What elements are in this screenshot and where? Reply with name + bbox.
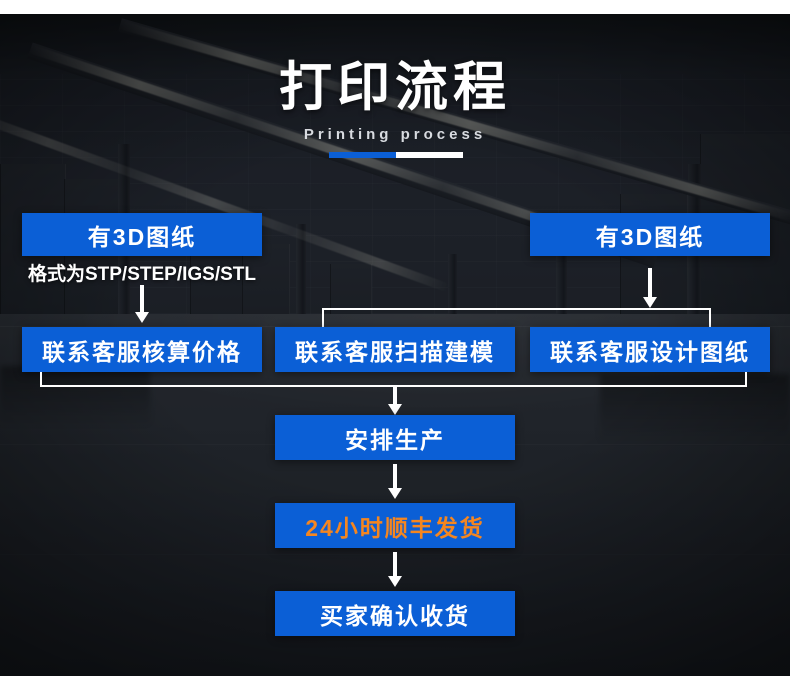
arrow-down-left-column <box>135 285 149 323</box>
flow-box-buyer-confirm-receipt[interactable]: 买家确认收货 <box>275 591 515 636</box>
arrow-down-to-production <box>388 385 402 415</box>
printing-process-infographic: 打印流程 Printing process 有3D图纸 格式为STP/STEP/… <box>0 0 790 696</box>
page-subtitle: Printing process <box>0 126 790 143</box>
divider-segment-white <box>396 152 463 158</box>
arrow-down-to-shipping <box>388 464 402 499</box>
flow-box-arrange-production[interactable]: 安排生产 <box>275 415 515 460</box>
flow-box-contact-service-scan-model[interactable]: 联系客服扫描建模 <box>275 327 515 372</box>
bracket-top-right-drop <box>709 308 711 329</box>
bracket-top-horizontal <box>322 308 711 310</box>
title-divider <box>329 152 463 158</box>
bracket-top-left-drop <box>322 308 324 329</box>
bracket-bottom-left-riser <box>40 372 42 386</box>
arrow-down-right-column <box>643 268 657 308</box>
page-title: 打印流程 <box>0 58 790 118</box>
flow-caption-file-formats: 格式为STP/STEP/IGS/STL <box>12 259 272 286</box>
flow-box-contact-service-design-drawing[interactable]: 联系客服设计图纸 <box>530 327 770 372</box>
flow-box-contact-service-quote[interactable]: 联系客服核算价格 <box>22 327 262 372</box>
flow-box-24h-sf-express-shipping[interactable]: 24小时顺丰发货 <box>275 503 515 548</box>
arrow-down-to-confirm-receipt <box>388 552 402 587</box>
bracket-bottom-right-riser <box>745 372 747 386</box>
flow-box-have-3d-drawing-right[interactable]: 有3D图纸 <box>530 213 770 256</box>
divider-segment-blue <box>329 152 396 158</box>
flow-box-have-3d-drawing-left[interactable]: 有3D图纸 <box>22 213 262 256</box>
